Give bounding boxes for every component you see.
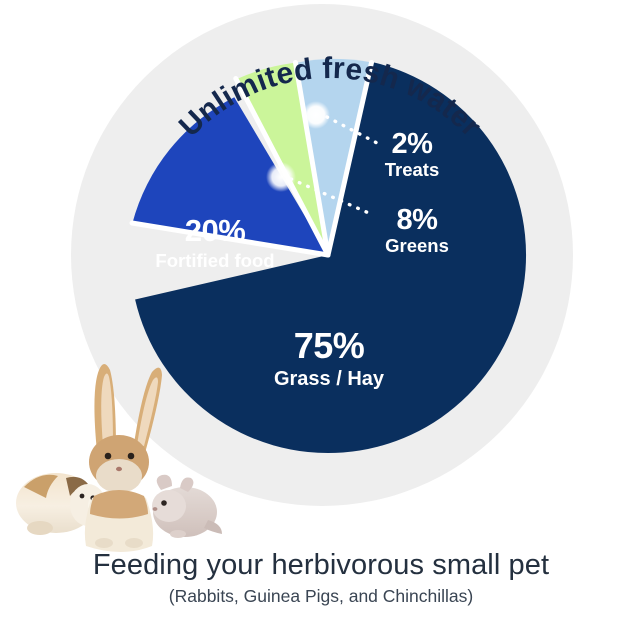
pie-chart-infographic: Unlimited fresh water 75% Grass / Hay 20… bbox=[0, 0, 642, 642]
chinchilla-illustration bbox=[152, 475, 222, 538]
label-grass-hay-percent: 75% bbox=[294, 325, 365, 366]
label-fortified-food-percent: 20% bbox=[185, 213, 246, 248]
caption-main-text: Feeding your herbivorous small pet bbox=[0, 548, 642, 582]
label-treats: 2% Treats bbox=[385, 128, 440, 180]
treats-marker-dot bbox=[302, 101, 330, 129]
caption-sub-text: (Rabbits, Guinea Pigs, and Chinchillas) bbox=[0, 584, 642, 608]
label-fortified-food-name: Fortified food bbox=[155, 250, 274, 271]
label-greens-name: Greens bbox=[385, 235, 449, 256]
label-greens-percent: 8% bbox=[397, 204, 439, 236]
caption-block: Feeding your herbivorous small pet (Rabb… bbox=[0, 548, 642, 608]
label-treats-percent: 2% bbox=[392, 128, 434, 160]
chart-stage: Unlimited fresh water 75% Grass / Hay 20… bbox=[0, 0, 642, 642]
label-grass-hay-name: Grass / Hay bbox=[274, 368, 385, 390]
chart-svg: Unlimited fresh water 75% Grass / Hay 20… bbox=[0, 0, 642, 642]
greens-marker-dot bbox=[266, 162, 296, 192]
label-treats-name: Treats bbox=[385, 159, 440, 180]
